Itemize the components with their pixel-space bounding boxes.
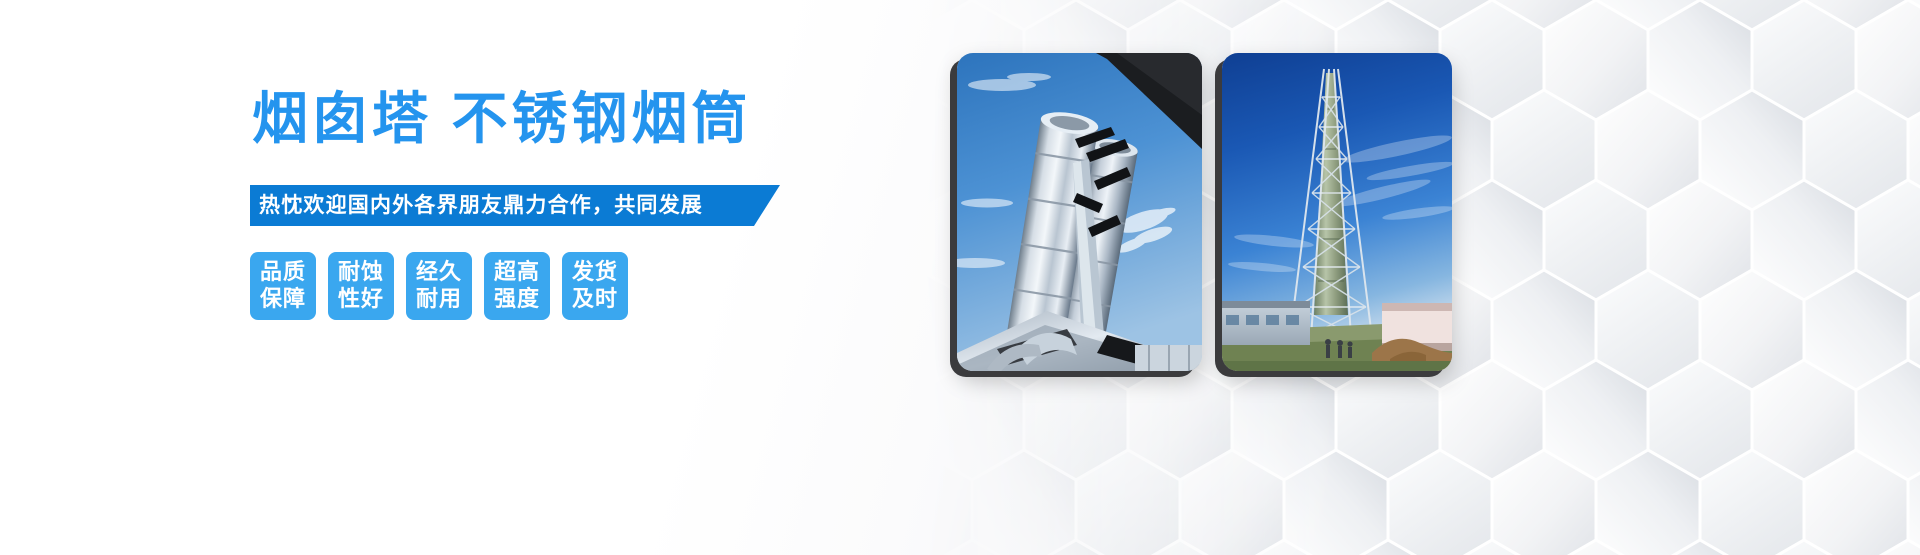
- product-photo-chimney-stacks[interactable]: [957, 53, 1202, 371]
- badge-line-1: 超高: [494, 259, 540, 286]
- badge-line-1: 经久: [416, 259, 462, 286]
- badge-line-1: 发货: [572, 259, 618, 286]
- subtitle-bar: 热忱欢迎国内外各界朋友鼎力合作，共同发展: [250, 185, 780, 226]
- badge-line-2: 耐用: [416, 286, 462, 313]
- badge-line-2: 及时: [572, 286, 618, 313]
- badge-line-1: 品质: [260, 259, 306, 286]
- subtitle-text: 热忱欢迎国内外各界朋友鼎力合作，共同发展: [250, 195, 703, 216]
- feature-badge[interactable]: 耐蚀 性好: [328, 252, 394, 320]
- badge-line-2: 保障: [260, 286, 306, 313]
- banner-content: 烟囱塔 不锈钢烟筒 热忱欢迎国内外各界朋友鼎力合作，共同发展 品质 保障 耐蚀 …: [250, 0, 810, 555]
- page-title: 烟囱塔 不锈钢烟筒: [252, 88, 752, 150]
- feature-badge[interactable]: 经久 耐用: [406, 252, 472, 320]
- badge-line-1: 耐蚀: [338, 259, 384, 286]
- feature-badge[interactable]: 品质 保障: [250, 252, 316, 320]
- product-photo-lattice-tower[interactable]: [1222, 53, 1452, 371]
- badge-line-2: 性好: [338, 286, 384, 313]
- promo-banner: 烟囱塔 不锈钢烟筒 热忱欢迎国内外各界朋友鼎力合作，共同发展 品质 保障 耐蚀 …: [0, 0, 1920, 555]
- feature-badge[interactable]: 发货 及时: [562, 252, 628, 320]
- feature-badge[interactable]: 超高 强度: [484, 252, 550, 320]
- badge-line-2: 强度: [494, 286, 540, 313]
- feature-badge-list: 品质 保障 耐蚀 性好 经久 耐用 超高 强度 发货 及时: [250, 252, 628, 320]
